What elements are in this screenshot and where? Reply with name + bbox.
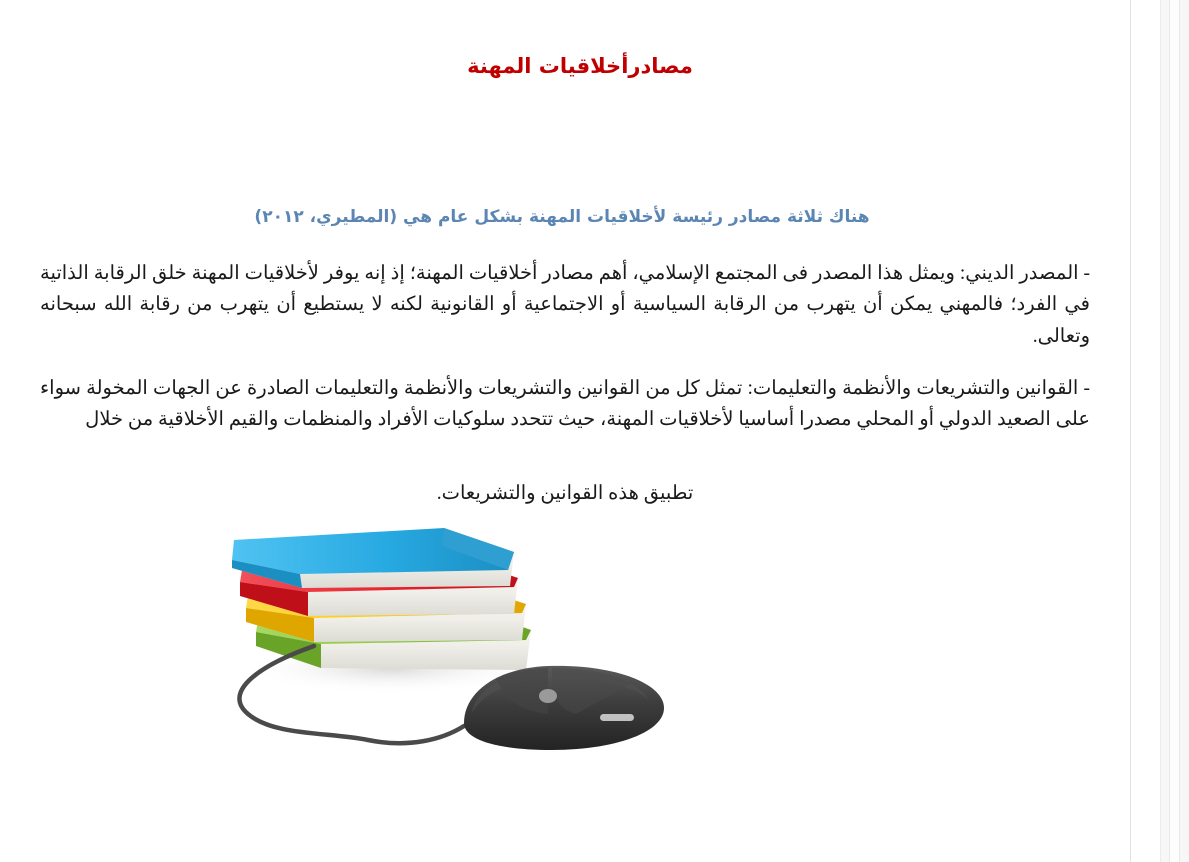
paragraph-religious-source: - المصدر الديني: ويمثل هذا المصدر فى الم… [40,258,1090,353]
vertical-scrollbar-thumb[interactable] [1169,0,1180,862]
page-title: مصادرأخلاقيات المهنة [0,54,1160,78]
document-page: مصادرأخلاقيات المهنة هناك ثلاثة مصادر رئ… [0,0,1160,862]
section-subheading: هناك ثلاثة مصادر رئيسة لأخلاقيات المهنة … [142,207,982,227]
page-right-edge [1130,0,1131,862]
paragraph-laws-legislation: - القوانين والتشريعات والأنظمة والتعليما… [40,373,1090,436]
blue-book [232,528,514,588]
mouse-scroll-wheel [539,689,557,703]
mouse-indicator-light [600,714,634,721]
paragraph-closing-line: تطبيق هذه القوانين والتشريعات. [40,478,1090,510]
illustration-books-and-mouse [196,518,696,783]
vertical-scrollbar-track[interactable] [1160,0,1189,862]
